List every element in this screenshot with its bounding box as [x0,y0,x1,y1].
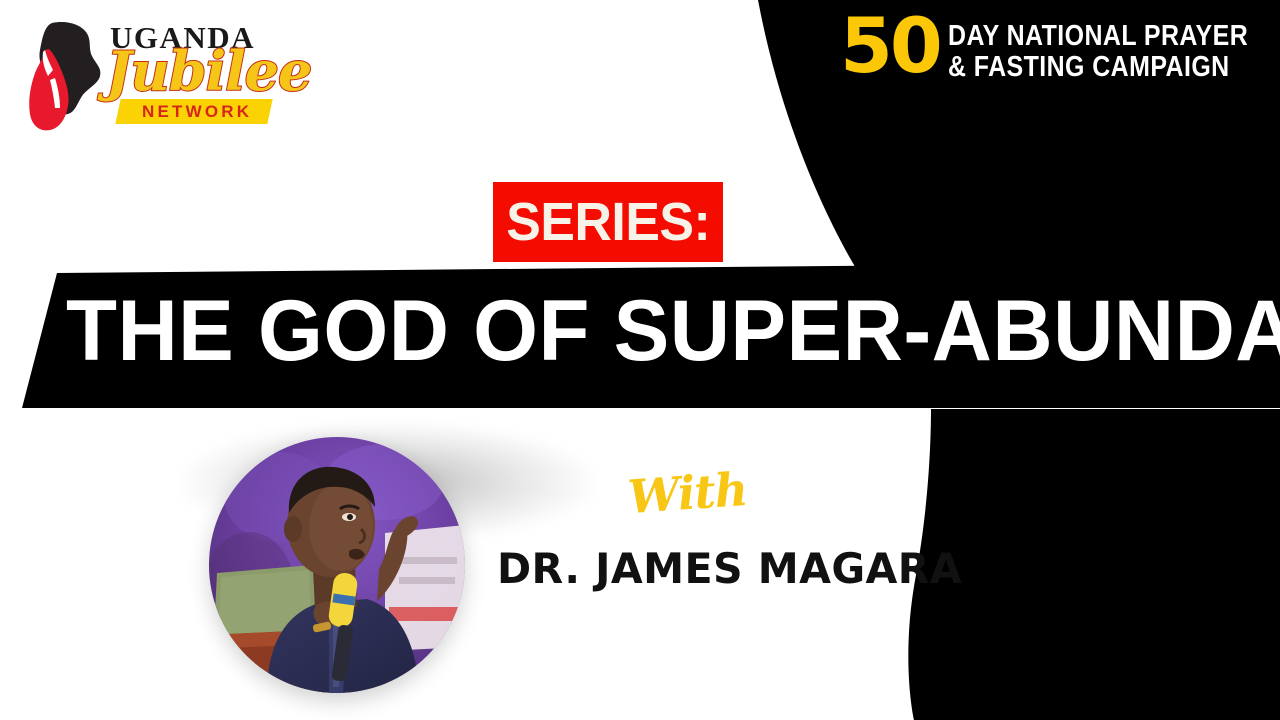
campaign-line-2: & FASTING CAMPAIGN [948,52,1248,83]
speaker-photo [209,437,465,693]
campaign-header: 50 DAY NATIONAL PRAYER & FASTING CAMPAIG… [840,14,1270,84]
logo-network-text: NETWORK [142,102,252,122]
speaker-name: DR. JAMES MAGARA [497,548,962,590]
campaign-text-block: DAY NATIONAL PRAYER & FASTING CAMPAIGN [948,14,1280,84]
with-label: With [627,466,749,520]
bottom-right-black-shape [908,409,1280,720]
logo-jubilee-text: Jubilee [106,44,311,98]
campaign-line-1: DAY NATIONAL PRAYER [948,21,1248,52]
promo-graphic: UGANDA Jubilee NETWORK 50 DAY NATIONAL P… [0,0,1280,720]
brand-logo: UGANDA Jubilee NETWORK [22,18,290,133]
campaign-day-count: 50 [840,14,940,78]
series-badge: SERIES: [493,182,723,262]
series-badge-label: SERIES: [506,195,710,249]
title-band-container: THE GOD OF SUPER-ABUNDANCE [0,262,1280,422]
series-title: THE GOD OF SUPER-ABUNDANCE [66,284,1191,379]
